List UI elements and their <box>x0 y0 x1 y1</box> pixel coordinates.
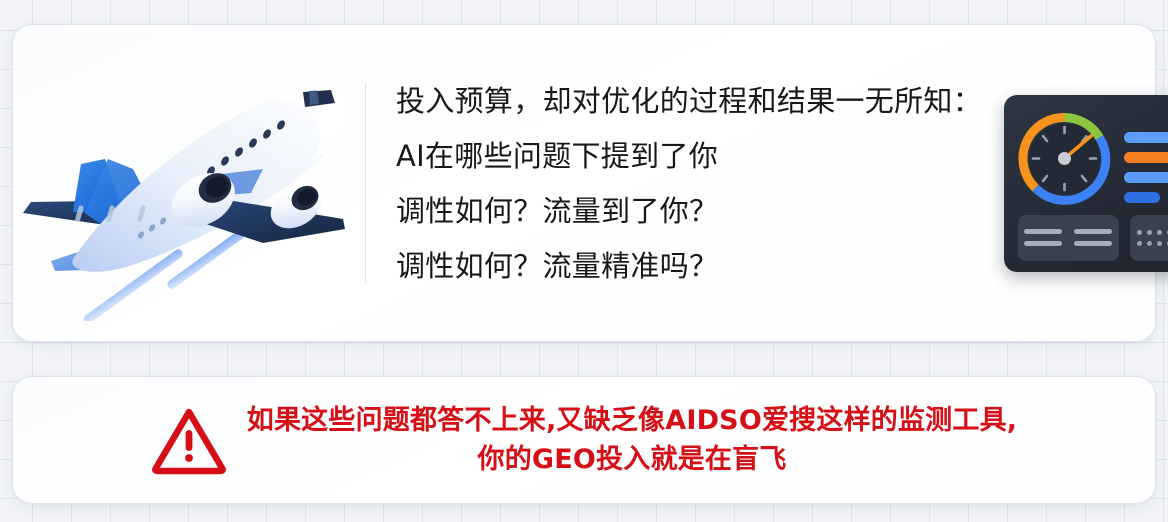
warning-line-2: 你的GEO投入就是在盲飞 <box>478 442 787 478</box>
progress-bars <box>1124 108 1168 208</box>
insight-line-2: AI在哪些问题下提到了你 <box>396 133 982 179</box>
warning-triangle-icon <box>151 405 227 475</box>
insight-card: 投入预算，却对优化的过程和结果一无所知： AI在哪些问题下提到了你 调性如何？流… <box>12 24 1156 342</box>
stat-dash <box>1074 241 1112 246</box>
warning-line-1: 如果这些问题都答不上来,又缺乏像AIDSO爱搜这样的监测工具, <box>247 403 1017 439</box>
dot-grid <box>1137 230 1168 246</box>
analytics-dashboard-illustration <box>1004 95 1168 272</box>
stat-panel-dots <box>1130 215 1168 261</box>
gauge-hub <box>1058 152 1071 165</box>
progress-bar-3 <box>1124 172 1168 183</box>
progress-bar-4 <box>1124 192 1168 203</box>
insight-text-block: 投入预算，却对优化的过程和结果一无所知： AI在哪些问题下提到了你 调性如何？流… <box>366 78 990 289</box>
warning-card: 如果这些问题都答不上来,又缺乏像AIDSO爱搜这样的监测工具, 你的GEO投入就… <box>12 376 1156 504</box>
warning-text-block: 如果这些问题都答不上来,又缺乏像AIDSO爱搜这样的监测工具, 你的GEO投入就… <box>247 403 1017 478</box>
insight-line-3: 调性如何？流量到了你？ <box>396 188 982 234</box>
speedometer-gauge <box>1018 112 1111 205</box>
stat-panel-dashes <box>1018 215 1119 261</box>
airplane-illustration-area <box>13 25 365 341</box>
progress-bar-2 <box>1124 152 1168 163</box>
stat-dash <box>1024 241 1062 246</box>
stat-dash <box>1024 229 1062 234</box>
airplane-illustration <box>13 47 365 321</box>
insight-line-4: 调性如何？流量精准吗？ <box>396 243 982 289</box>
dashboard-illustration-area <box>990 25 1168 341</box>
insight-line-1: 投入预算，却对优化的过程和结果一无所知： <box>396 78 982 124</box>
stat-dash <box>1074 229 1112 234</box>
progress-bar-1 <box>1124 132 1168 143</box>
